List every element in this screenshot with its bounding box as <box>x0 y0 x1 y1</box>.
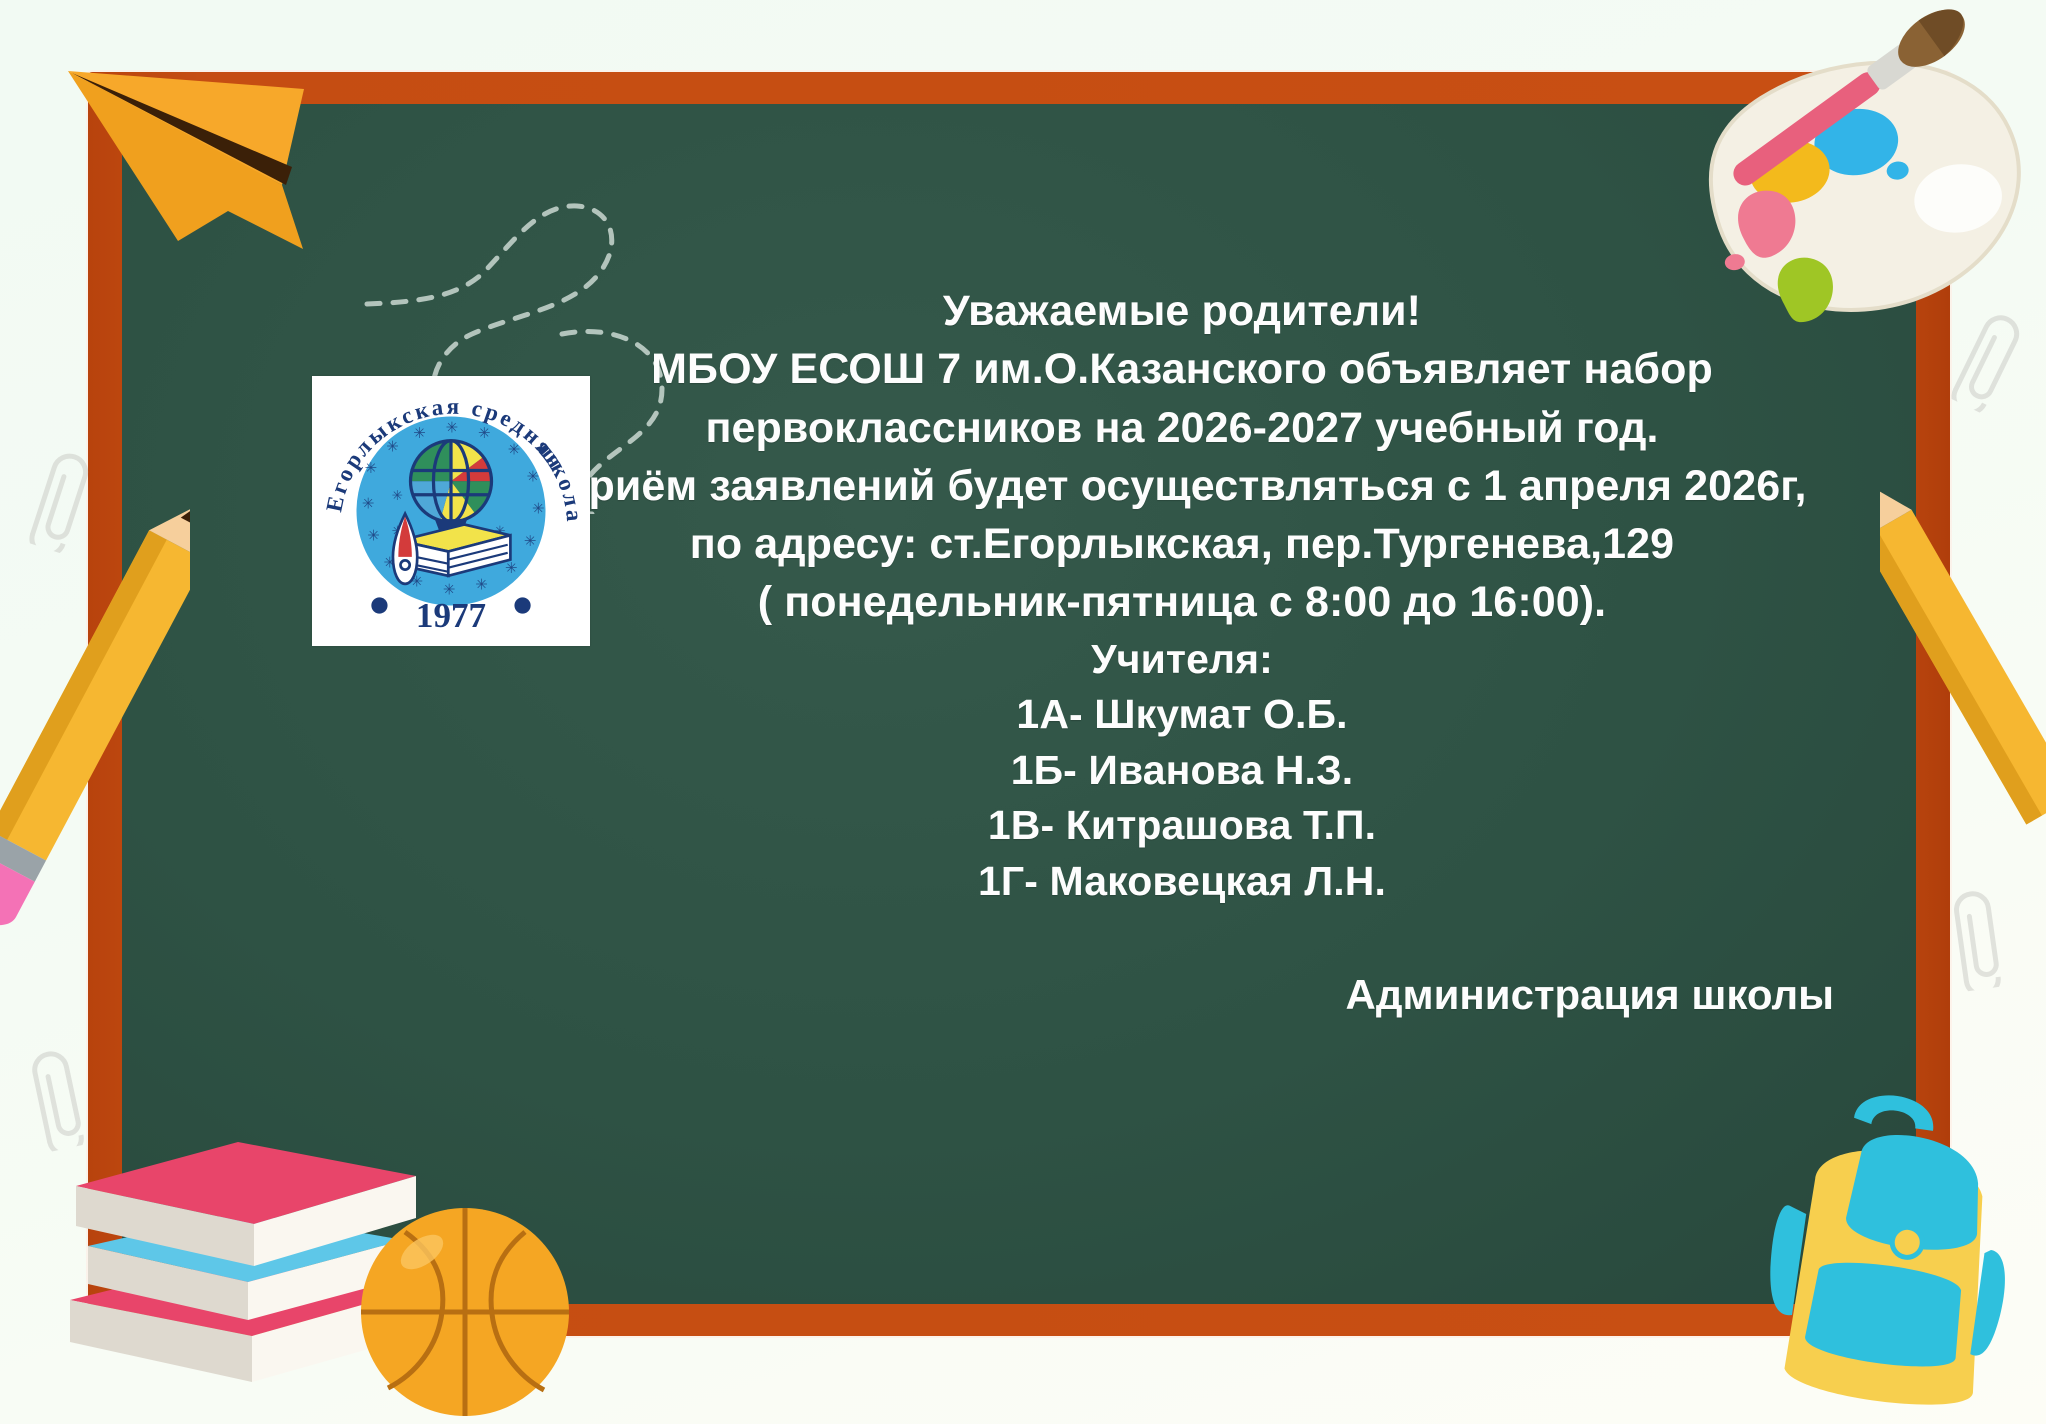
paperclip-icon <box>7 1034 98 1156</box>
svg-text:✳: ✳ <box>446 421 458 437</box>
notice-line: Уважаемые родители! <box>452 282 1912 340</box>
logo-dot-right <box>514 597 530 613</box>
svg-text:✳: ✳ <box>505 561 517 577</box>
notice-line: ( понедельник-пятница с 8:00 до 16:00). <box>452 573 1912 631</box>
notice-text-block: Уважаемые родители! МБОУ ЕСОШ 7 им.О.Каз… <box>452 282 1912 1019</box>
svg-text:✳: ✳ <box>386 440 398 456</box>
svg-text:✳: ✳ <box>532 502 544 518</box>
chalkboard-surface: Уважаемые родители! МБОУ ЕСОШ 7 им.О.Каз… <box>122 104 1916 1304</box>
school-logo: ✳ ✳ ✳ ✳ ✳ ✳ ✳ ✳ ✳ ✳ ✳ ✳ ✳ <box>312 376 590 646</box>
notice-line: Приём заявлений будет осуществляться с 1… <box>452 457 1912 515</box>
spacer <box>452 909 1912 971</box>
signature: Администрация школы <box>452 971 1912 1019</box>
teacher-item: 1Г- Маковецкая Л.Н. <box>452 854 1912 910</box>
teachers-heading: Учителя: <box>452 632 1912 688</box>
svg-text:✳: ✳ <box>524 534 536 550</box>
notice-line: МБОУ ЕСОШ 7 им.О.Казанского объявляет на… <box>452 340 1912 398</box>
notice-line: по адресу: ст.Егорлыкская, пер.Тургенева… <box>452 515 1912 573</box>
svg-text:✳: ✳ <box>362 496 374 512</box>
svg-text:✳: ✳ <box>413 426 425 442</box>
svg-text:✳: ✳ <box>392 488 403 503</box>
teacher-item: 1В- Китрашова Т.П. <box>452 798 1912 854</box>
svg-text:✳: ✳ <box>478 426 490 442</box>
teacher-item: 1Б- Иванова Н.З. <box>452 743 1912 799</box>
svg-text:✳: ✳ <box>475 577 487 593</box>
announcement-poster: Уважаемые родители! МБОУ ЕСОШ 7 им.О.Каз… <box>0 0 2046 1424</box>
notice-line: первоклассников на 2026-2027 учебный год… <box>452 399 1912 457</box>
teacher-item: 1А- Шкумат О.Б. <box>452 687 1912 743</box>
svg-text:✳: ✳ <box>508 442 520 458</box>
svg-text:✳: ✳ <box>367 529 379 545</box>
svg-text:✳: ✳ <box>365 461 377 477</box>
svg-text:✳: ✳ <box>527 469 539 485</box>
chalkboard-frame: Уважаемые родители! МБОУ ЕСОШ 7 им.О.Каз… <box>88 72 1950 1336</box>
logo-dot-left <box>371 597 387 613</box>
paperclip-icon <box>1931 876 2016 995</box>
logo-year: 1977 <box>416 596 486 635</box>
